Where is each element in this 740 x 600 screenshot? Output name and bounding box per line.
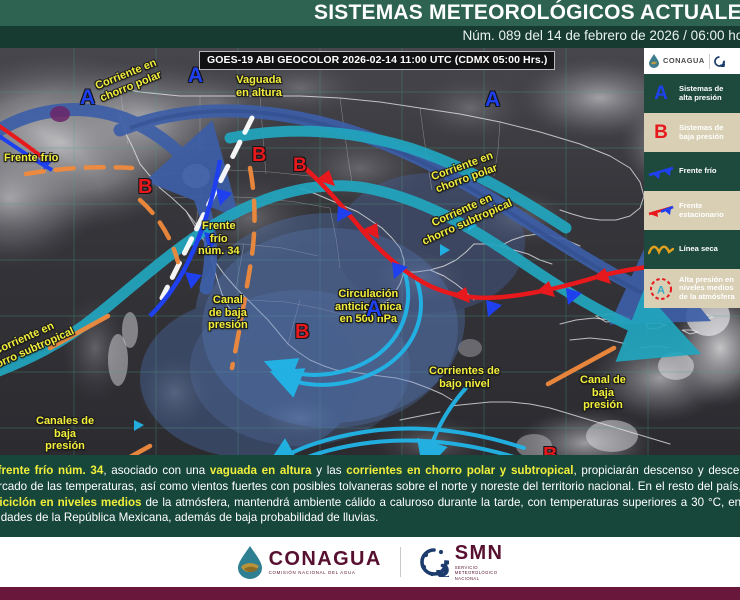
legend-item-low-pressure: B Sistemas de baja presión [644,113,740,152]
map-legend: CONAGUA A Sistemas de alta presión B Sis… [644,48,740,308]
footer-logos: CONAGUA COMISIÓN NACIONAL DEL AGUA SMN S… [0,537,740,587]
weather-systems-overlay [0,48,740,455]
satellite-timestamp: GOES-19 ABI GEOCOLOR 2026-02-14 11:00 UT… [199,51,555,70]
pressure-marker-B-texas: B [252,144,266,167]
pressure-marker-A-golfo-tehuantepec: A [366,296,382,322]
stationary-front-icon [648,199,674,223]
annotation-canales-baja-presion-pacifico: Canales de baja presión [36,415,94,453]
bulletin-seg-2: vaguada en altura [210,464,312,477]
pressure-marker-B-venezuela: B [543,444,557,455]
svg-text:A: A [657,284,665,296]
cold-front-icon [648,160,674,184]
footer-divider [400,547,401,577]
smn-name: SMN [455,543,504,563]
conagua-wordmark: CONAGUA COMISIÓN NACIONAL DEL AGUA [269,549,382,575]
legend-label-high-pressure: Sistemas de alta presión [679,85,738,102]
bulletin-text-panel: El frente frío núm. 34, asociado con una… [0,455,740,537]
conagua-name: CONAGUA [269,549,382,569]
legend-logo-bar: CONAGUA [644,48,740,74]
smn-logo-icon [419,547,449,577]
mid-level-high-icon: A [648,277,674,301]
high-pressure-letter-icon: A [648,82,674,106]
legend-item-high-pressure: A Sistemas de alta presión [644,74,740,113]
bulletin-seg-1: , asociado con una [103,464,210,477]
annotation-canal-baja-presion-caribe: Canal de baja presión [580,374,626,412]
conagua-drop-icon [649,54,659,68]
footer-accent-bar [0,587,740,600]
pressure-marker-B-noreste-mexico: B [293,155,307,177]
annotation-vaguada-en-altura: Vaguada en altura [236,74,282,99]
smn-spiral-icon [714,56,725,67]
annotation-frente-frio: Frente frío [4,152,58,165]
bulletin-seg-3: y las [311,464,346,477]
bulletin-seg-0: El frente frío núm. 34 [0,464,103,477]
legend-item-mid-level-high: A Alta presión en niveles medios de la a… [644,269,740,308]
legend-label-low-pressure: Sistemas de baja presión [679,124,738,141]
anticyclone-shading [190,228,458,446]
legend-item-cold-front: Frente frío [644,152,740,191]
pressure-marker-A-este-eeuu: A [485,88,500,112]
conagua-tagline: COMISIÓN NACIONAL DEL AGUA [269,571,382,575]
annotation-frente-frio-num-34: Frente frío núm. 34 [198,220,240,258]
low-pressure-letter-icon: B [648,121,674,145]
annotation-canal-baja-presion-centro: Canal de baja presión [208,294,248,332]
legend-symbol-A: A [654,84,668,103]
legend-item-stationary-front: Frente estacionario [644,191,740,230]
conagua-logo-icon [237,545,263,579]
satellite-map[interactable]: GOES-19 ABI GEOCOLOR 2026-02-14 11:00 UT… [0,48,740,455]
legend-symbol-B: B [654,123,668,142]
legend-label-dry-line: Línea seca [679,245,738,254]
pressure-marker-B-centro-mexico: B [295,321,309,344]
legend-label-stationary-front: Frente estacionario [679,202,738,219]
bulletin-seg-4: corrientes en chorro polar y subtropical [346,464,573,477]
conagua-brand: CONAGUA COMISIÓN NACIONAL DEL AGUA [237,545,382,579]
smn-wordmark: SMN SERVICIO METEOROLÓGICO NACIONAL [455,543,504,581]
dry-line-icon [648,238,674,262]
legend-conagua-label: CONAGUA [663,57,705,66]
bulletin-number-date: Núm. 089 del 14 de febrero de 2026 / 06:… [463,28,740,43]
legend-label-cold-front: Frente frío [679,167,738,176]
bulletin-paragraph: El frente frío núm. 34, asociado con una… [0,463,740,526]
weather-bulletin-page: SISTEMAS METEOROLÓGICOS ACTUALES Núm. 08… [0,0,740,600]
pressure-marker-A-noroeste: A [80,86,95,110]
annotation-corrientes-bajo-nivel: Corrientes de bajo nivel [429,365,500,390]
legend-label-mid-level-high: Alta presión en niveles medios de la atm… [679,276,738,302]
bulletin-seg-6: anticiclón en niveles medios [0,496,142,509]
page-title: SISTEMAS METEOROLÓGICOS ACTUALES [314,1,740,25]
smn-brand: SMN SERVICIO METEOROLÓGICO NACIONAL [419,543,504,581]
legend-item-dry-line: Línea seca [644,230,740,269]
pressure-marker-B-baja-california: B [138,176,152,199]
smn-tagline: SERVICIO METEOROLÓGICO NACIONAL [455,565,504,581]
